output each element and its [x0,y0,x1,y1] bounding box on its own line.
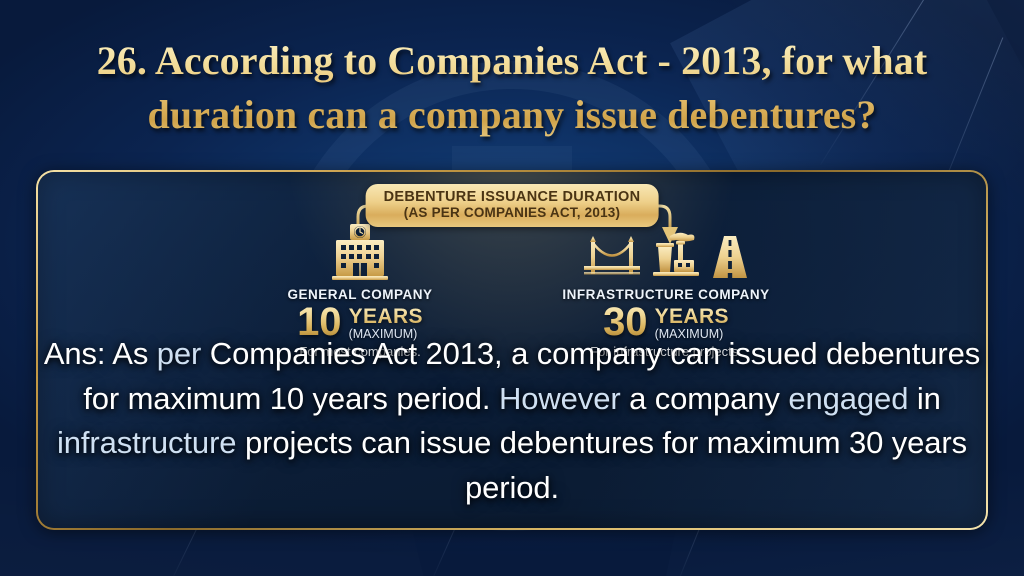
answer-seg-tint: per [157,336,202,371]
icon-row-infrastructure [516,220,816,280]
answer-seg: a company [621,381,789,416]
unit-general-years: YEARS [349,306,423,327]
highway-road-icon [710,232,750,280]
badge-line-1: DEBENTURE ISSUANCE DURATION [384,189,641,205]
unit-infrastructure-years: YEARS [655,306,729,327]
answer-seg-tint: engaged [788,381,908,416]
label-infrastructure-company: INFRASTRUCTURE COMPANY [516,287,816,302]
answer-text: Ans: As per Companies Act 2013, a compan… [42,332,982,511]
badge-line-2: (AS PER COMPANIES ACT, 2013) [384,205,641,220]
icon-row-general [210,220,510,280]
office-building-clock-icon [328,222,392,280]
answer-seg: Ans: As [44,336,157,371]
answer-seg: projects can issue debentures for maximu… [236,425,967,505]
answer-seg-tint: infrastructure [57,425,237,460]
badge-debenture-issuance-duration: DEBENTURE ISSUANCE DURATION (AS PER COMP… [366,184,659,227]
answer-seg: in [908,381,940,416]
answer-seg-tint: However [499,381,621,416]
suspension-bridge-icon [582,234,642,280]
question-title: 26. According to Companies Act - 2013, f… [0,34,1024,142]
label-general-company: GENERAL COMPANY [210,287,510,302]
slide-canvas: 26. According to Companies Act - 2013, f… [0,0,1024,576]
power-plant-icon [650,230,702,280]
